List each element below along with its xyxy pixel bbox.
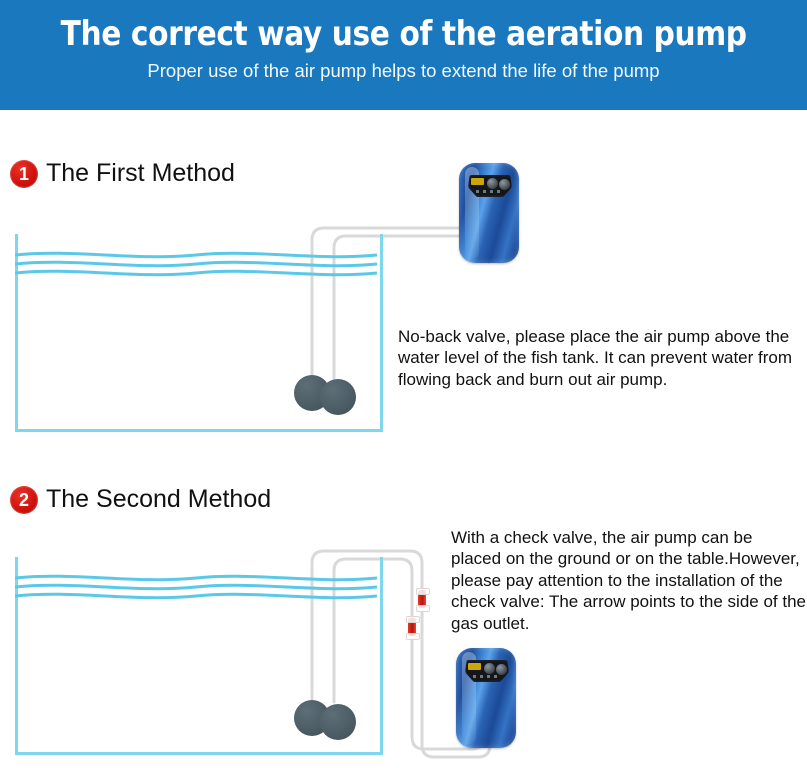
section-title-two: The Second Method xyxy=(46,485,271,514)
pump-control-panel xyxy=(468,175,512,197)
pump-display-icon xyxy=(471,178,484,185)
check-valve-icon-lower xyxy=(406,616,418,638)
pump-knob-icon xyxy=(496,664,507,675)
header-banner: The correct way use of the aeration pump… xyxy=(0,0,807,110)
pump-body xyxy=(459,163,519,263)
pump-indicator-lights xyxy=(473,675,501,678)
pump-body xyxy=(456,648,516,748)
page-subtitle: Proper use of the air pump helps to exte… xyxy=(147,60,659,82)
pump-knob-icon xyxy=(499,179,510,190)
infographic-page: The correct way use of the aeration pump… xyxy=(0,0,807,768)
page-title: The correct way use of the aeration pump xyxy=(60,14,746,54)
air-stone-icon xyxy=(320,704,356,740)
air-pump-one xyxy=(459,163,519,263)
pump-display-icon xyxy=(468,663,481,670)
pump-indicator-lights xyxy=(476,190,504,193)
air-pump-two xyxy=(456,648,516,748)
section-heading-one: 1 The First Method xyxy=(10,159,235,188)
step-number-badge-1: 1 xyxy=(10,160,38,188)
check-valve-icon-upper xyxy=(416,588,428,610)
section-title-one: The First Method xyxy=(46,159,235,188)
pump-control-panel xyxy=(465,660,509,682)
section-one-description: No-back valve, please place the air pump… xyxy=(398,326,798,390)
section-two-description: With a check valve, the air pump can be … xyxy=(451,527,807,634)
pump-knob-icon xyxy=(484,663,495,674)
pump-knob-icon xyxy=(487,178,498,189)
section-heading-two: 2 The Second Method xyxy=(10,485,271,514)
air-stone-icon xyxy=(320,379,356,415)
step-number-badge-2: 2 xyxy=(10,486,38,514)
